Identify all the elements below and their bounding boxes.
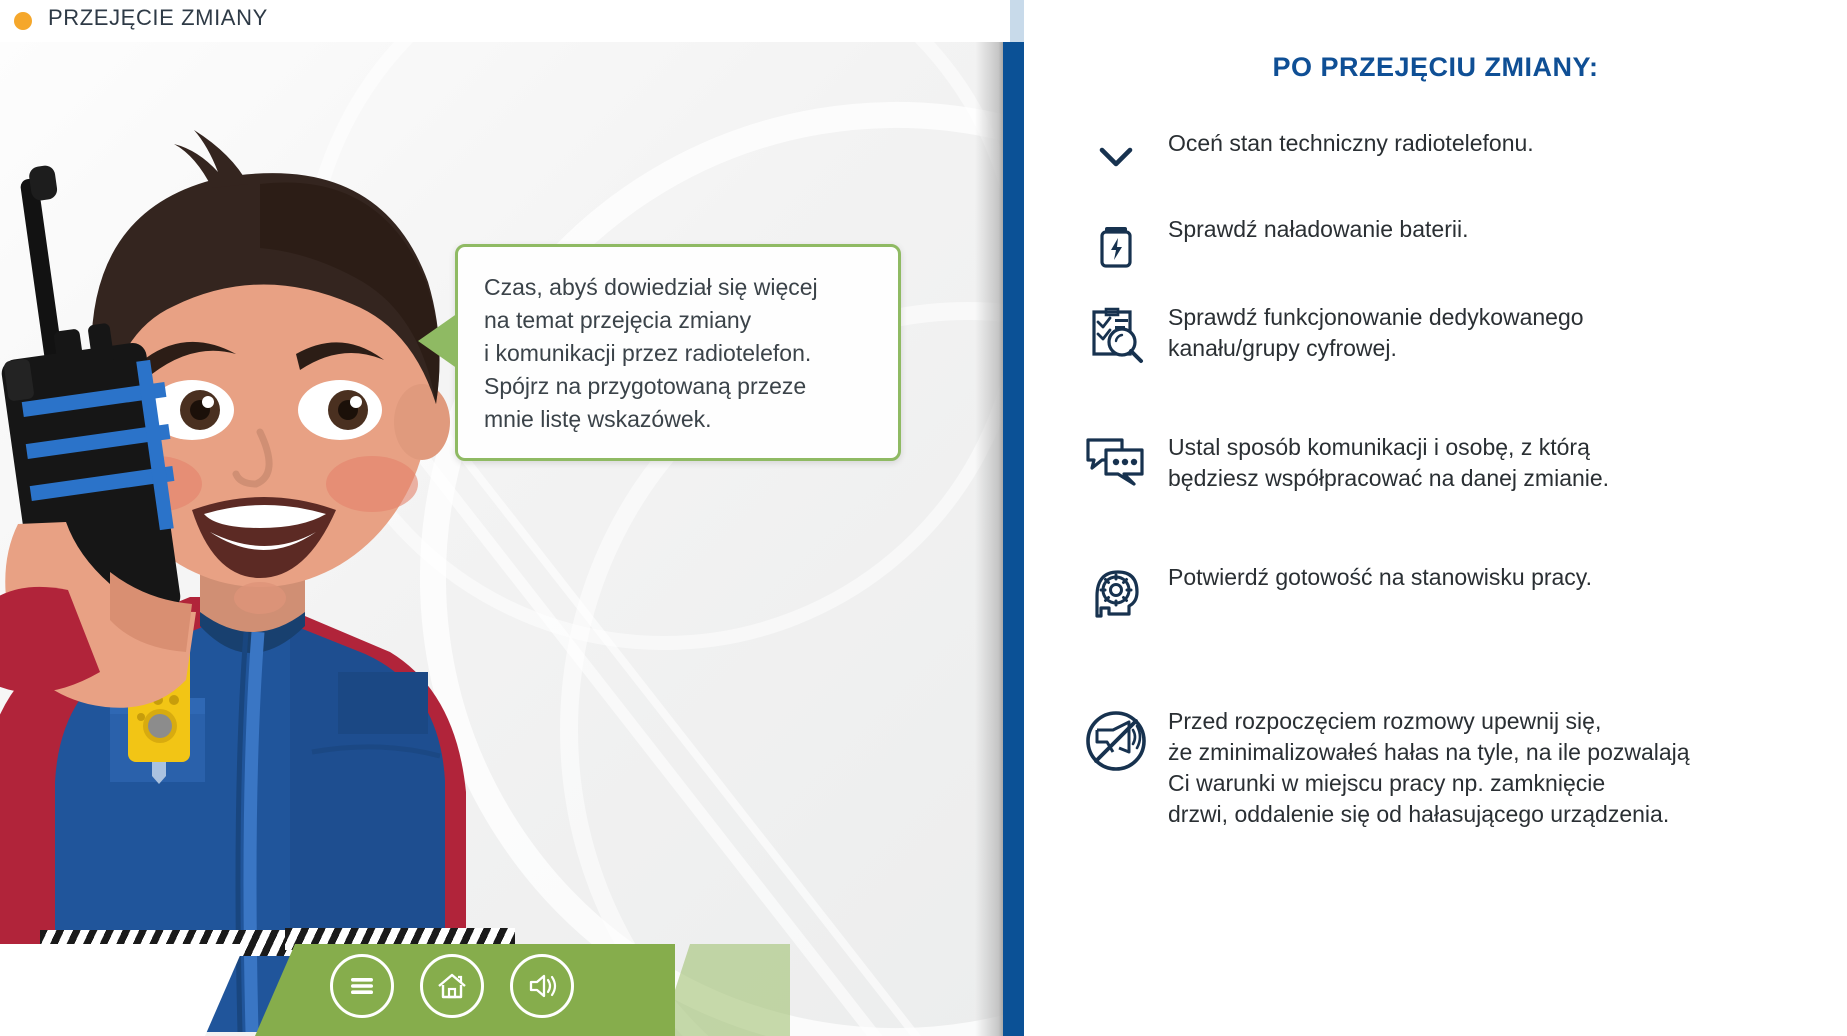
head-gear-icon [1087, 564, 1145, 622]
page-title: PRZEJĘCIE ZMIANY [48, 5, 268, 31]
speech-bubble: Czas, abyś dowiedział się więcej na tema… [455, 244, 901, 461]
list-item: Przed rozpoczęciem rozmowy upewnij się, … [1064, 706, 1844, 856]
list-item-icon [1064, 706, 1168, 774]
vertical-divider [1003, 42, 1024, 1036]
worker-illustration [0, 92, 600, 1032]
content-panel: PO PRZEJĘCIU ZMIANY: Oceń stan techniczn… [1024, 0, 1847, 1036]
slide-header: PRZEJĘCIE ZMIANY [0, 0, 1010, 42]
list-item-icon [1064, 302, 1168, 364]
menu-button[interactable] [330, 954, 394, 1018]
speech-bubble-text: Czas, abyś dowiedział się więcej na tema… [458, 247, 898, 458]
list-item-text: Sprawdź funkcjonowanie dedykowanego kana… [1168, 302, 1584, 364]
menu-icon [345, 969, 379, 1003]
home-icon [434, 968, 470, 1004]
toolbar-buttons [330, 954, 574, 1018]
no-noise-icon [1083, 708, 1149, 774]
list-item-text: Ustal sposób komunikacji i osobę, z któr… [1168, 432, 1609, 494]
list-item-text: Przed rozpoczęciem rozmowy upewnij się, … [1168, 706, 1690, 830]
chat-bubbles-icon [1084, 434, 1148, 490]
check-icon [1089, 130, 1143, 184]
list-item-text: Sprawdź naładowanie baterii. [1168, 214, 1468, 245]
list-item-text: Oceń stan techniczny radiotelefonu. [1168, 128, 1534, 159]
panel-shadow [975, 0, 1005, 1036]
home-button[interactable] [420, 954, 484, 1018]
list-item-text: Potwierdź gotowość na stanowisku pracy. [1168, 562, 1592, 593]
list-item-icon [1064, 432, 1168, 490]
content-title: PO PRZEJĘCIU ZMIANY: [1024, 52, 1847, 83]
speech-bubble-tail [418, 313, 458, 369]
header-bullet-icon [14, 12, 32, 30]
list-item: Sprawdź naładowanie baterii. [1064, 214, 1844, 302]
checklist: Oceń stan techniczny radiotelefonu. Spra… [1064, 128, 1844, 856]
list-item: Sprawdź funkcjonowanie dedykowanego kana… [1064, 302, 1844, 432]
illustration-panel: Czas, abyś dowiedział się więcej na tema… [0, 42, 1010, 1036]
list-item: Potwierdź gotowość na stanowisku pracy. [1064, 562, 1844, 684]
sound-icon [524, 968, 560, 1004]
list-item: Oceń stan techniczny radiotelefonu. [1064, 128, 1844, 214]
list-item-icon [1064, 562, 1168, 622]
slide-stage: PRZEJĘCIE ZMIANY [0, 0, 1847, 1036]
list-item-icon [1064, 214, 1168, 270]
list-item-icon [1064, 128, 1168, 184]
list-item: Ustal sposób komunikacji i osobę, z któr… [1064, 432, 1844, 562]
checklist-search-icon [1086, 304, 1146, 364]
battery-icon [1089, 216, 1143, 270]
sound-button[interactable] [510, 954, 574, 1018]
